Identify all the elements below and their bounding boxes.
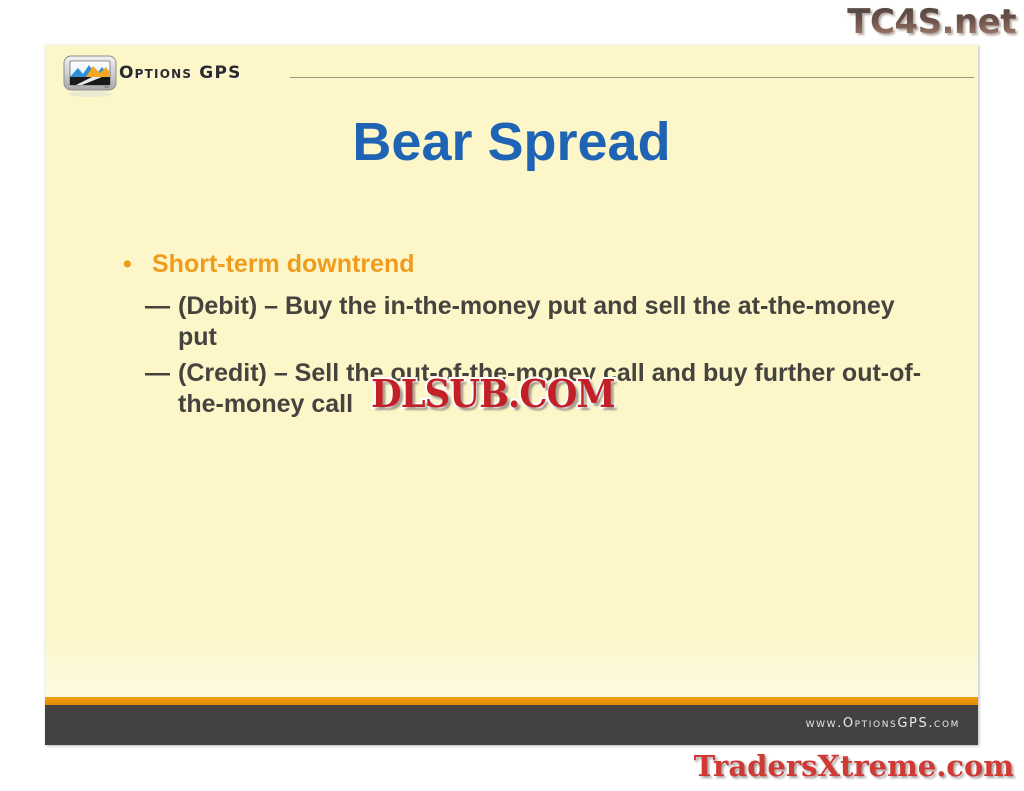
bullet-dot-icon: • xyxy=(123,250,132,279)
em-dash-icon: — xyxy=(145,291,168,322)
bullet-level1-text: Short-term downtrend xyxy=(152,250,415,278)
em-dash-icon: — xyxy=(145,358,168,389)
gps-device-icon xyxy=(62,53,118,97)
bullet-level2-text: (Debit) – Buy the in-the-money put and s… xyxy=(178,292,895,351)
tradersxtreme-watermark: TradersXtreme.com xyxy=(694,749,1014,783)
slide-header: Options GPS xyxy=(45,45,978,107)
dlsub-watermark: DLSUB.COM xyxy=(371,371,615,416)
tc4s-watermark: TC4S.net xyxy=(847,2,1016,42)
bullet-level1: • Short-term downtrend xyxy=(115,250,938,279)
footer-accent-strip xyxy=(45,697,978,705)
slide-title: Bear Spread xyxy=(45,111,978,173)
bullet-level2: — (Debit) – Buy the in-the-money put and… xyxy=(115,291,938,352)
footer-url: www.OptionsGPS.com xyxy=(806,716,960,731)
header-divider xyxy=(290,77,974,78)
brand-wordmark: Options GPS xyxy=(119,63,242,83)
slide-footer: www.OptionsGPS.com xyxy=(45,705,978,745)
